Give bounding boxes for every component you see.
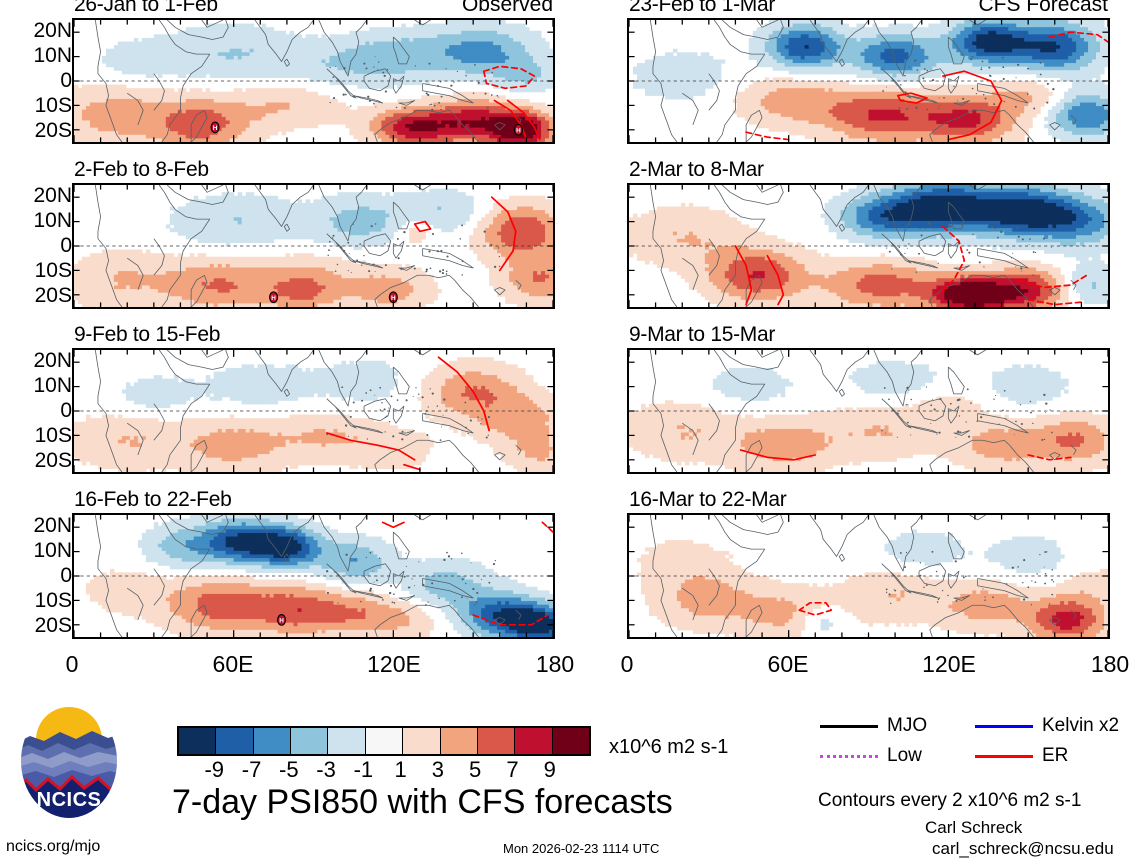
y-tick-label: 10S xyxy=(0,94,72,118)
legend-line-swatch xyxy=(975,725,1033,728)
y-tick-label: 20N xyxy=(0,184,72,208)
colorbar-tick-label: -3 xyxy=(316,757,336,783)
contour-note: Contours every 2 x10^6 m2 s-1 xyxy=(818,790,1081,812)
y-tick-label: 20S xyxy=(0,284,72,308)
legend-label: Kelvin x2 xyxy=(1042,715,1119,737)
colorbar-tick-label: -1 xyxy=(354,757,374,783)
map-canvas xyxy=(627,348,1110,474)
legend-item-low: Low xyxy=(820,745,922,767)
y-tick-label: 20S xyxy=(0,614,72,638)
wave-legend: MJOKelvin x2LowER xyxy=(820,715,1120,785)
colorbar-cell xyxy=(215,728,252,754)
map-canvas xyxy=(627,513,1110,639)
y-tick-label: 0 xyxy=(0,234,72,258)
map-canvas xyxy=(627,183,1110,309)
y-tick-label: 10N xyxy=(0,374,72,398)
colorbar-cell xyxy=(365,728,402,754)
ncics-logo-text: NCICS xyxy=(37,789,102,811)
svg-text:H: H xyxy=(213,125,218,132)
main-title: 7-day PSI850 with CFS forecasts xyxy=(172,783,673,822)
colorbar-cell xyxy=(477,728,514,754)
map-panel-r2-c0: 9-Feb to 15-Feb xyxy=(72,348,555,474)
x-tick-label: 60E xyxy=(768,651,809,678)
map-canvas: HH xyxy=(72,18,555,144)
colorbar-cell xyxy=(327,728,364,754)
colorbar-tick-label: -7 xyxy=(242,757,262,783)
x-tick-label: 120E xyxy=(922,651,976,678)
colorbar-tick-label: -5 xyxy=(279,757,299,783)
colorbar xyxy=(177,726,591,756)
y-tick-label: 20N xyxy=(0,349,72,373)
map-canvas xyxy=(72,348,555,474)
panel-title: 2-Feb to 8-Feb xyxy=(74,158,209,182)
legend-line-swatch xyxy=(820,755,878,758)
y-tick-label: 20S xyxy=(0,449,72,473)
panel-title: 16-Feb to 22-Feb xyxy=(74,488,231,512)
colorbar-cell xyxy=(402,728,439,754)
y-tick-label: 20N xyxy=(0,514,72,538)
site-url[interactable]: ncics.org/mjo xyxy=(6,838,100,856)
colorbar-cell xyxy=(290,728,327,754)
legend-item-mjo: MJO xyxy=(820,715,927,737)
map-panel-r0-c1: 23-Feb to 1-MarCFS Forecast xyxy=(627,18,1110,144)
panel-title: 9-Mar to 15-Mar xyxy=(629,323,775,347)
colorbar-units-label: x10^6 m2 s-1 xyxy=(609,736,728,759)
x-tick-label: 0 xyxy=(621,651,634,678)
colorbar-cell xyxy=(253,728,290,754)
map-canvas: HH xyxy=(72,183,555,309)
svg-text:H: H xyxy=(516,128,521,135)
legend-label: ER xyxy=(1042,745,1068,767)
y-tick-label: 10N xyxy=(0,209,72,233)
y-tick-label: 0 xyxy=(0,564,72,588)
panel-column-header: Observed xyxy=(462,0,553,17)
panel-title: 26-Jan to 1-Feb xyxy=(74,0,218,17)
y-tick-label: 0 xyxy=(0,399,72,423)
map-canvas xyxy=(627,18,1110,144)
ncics-logo-mark: NCICS xyxy=(14,700,124,822)
figure-root: 20N10N010S20S20N10N010S20S20N10N010S20S2… xyxy=(0,0,1135,860)
legend-item-er: ER xyxy=(975,745,1068,767)
colorbar-tick-label: 5 xyxy=(469,757,481,783)
map-panel-r3-c0: 16-Feb to 22-FebH xyxy=(72,513,555,639)
colorbar-tick-label: 1 xyxy=(395,757,407,783)
legend-item-kelvin-x2: Kelvin x2 xyxy=(975,715,1119,737)
panel-column-header: CFS Forecast xyxy=(978,0,1108,17)
author-name: Carl Schreck xyxy=(925,818,1022,838)
colorbar-cell xyxy=(514,728,551,754)
x-tick-label: 60E xyxy=(213,651,254,678)
colorbar-tick-label: 7 xyxy=(506,757,518,783)
colorbar-tick-label: -9 xyxy=(204,757,224,783)
panel-title: 16-Mar to 22-Mar xyxy=(629,488,786,512)
panel-title: 23-Feb to 1-Mar xyxy=(629,0,775,17)
x-tick-label: 0 xyxy=(66,651,79,678)
y-tick-label: 10S xyxy=(0,589,72,613)
panel-title: 9-Feb to 15-Feb xyxy=(74,323,220,347)
y-tick-label: 20S xyxy=(0,119,72,143)
legend-line-swatch xyxy=(975,755,1033,758)
y-tick-label: 20N xyxy=(0,19,72,43)
legend-label: Low xyxy=(887,745,922,767)
legend-line-swatch xyxy=(820,725,878,728)
x-tick-label: 120E xyxy=(367,651,421,678)
colorbar-cell xyxy=(440,728,477,754)
x-tick-label: 180 xyxy=(1091,651,1129,678)
generation-timestamp: Mon 2026-02-23 1114 UTC xyxy=(503,841,659,856)
map-panel-r1-c0: 2-Feb to 8-FebHH xyxy=(72,183,555,309)
y-tick-label: 10N xyxy=(0,44,72,68)
ncics-logo[interactable]: NCICS xyxy=(14,700,124,822)
x-tick-label: 180 xyxy=(536,651,574,678)
colorbar-cell xyxy=(179,728,215,754)
legend-label: MJO xyxy=(887,715,927,737)
colorbar-ticklabels: -9-7-5-3-113579 xyxy=(177,757,587,785)
map-panel-r1-c1: 2-Mar to 8-Mar xyxy=(627,183,1110,309)
map-panel-r0-c0: 26-Jan to 1-FebObservedHH xyxy=(72,18,555,144)
map-canvas: H xyxy=(72,513,555,639)
colorbar-tick-label: 3 xyxy=(432,757,444,783)
colorbar-cell xyxy=(552,728,589,754)
author-email: carl_schreck@ncsu.edu xyxy=(932,839,1114,859)
y-tick-label: 10S xyxy=(0,424,72,448)
y-tick-label: 0 xyxy=(0,69,72,93)
y-tick-label: 10S xyxy=(0,259,72,283)
map-panel-r3-c1: 16-Mar to 22-Mar xyxy=(627,513,1110,639)
panel-title: 2-Mar to 8-Mar xyxy=(629,158,764,182)
y-tick-label: 10N xyxy=(0,539,72,563)
colorbar-tick-label: 9 xyxy=(544,757,556,783)
map-panel-r2-c1: 9-Mar to 15-Mar xyxy=(627,348,1110,474)
